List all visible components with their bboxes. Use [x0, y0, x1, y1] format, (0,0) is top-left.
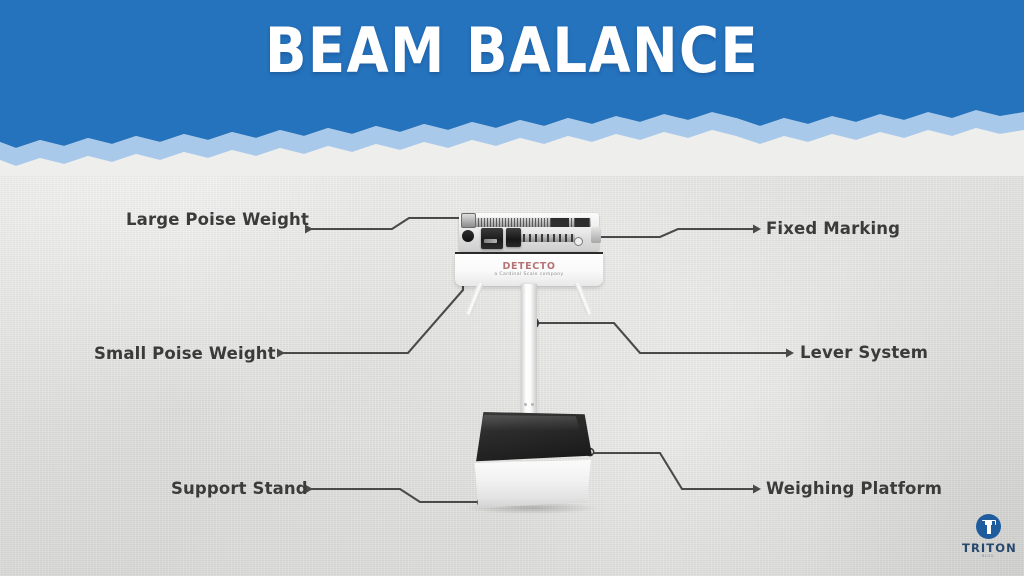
platform-base-housing	[471, 460, 592, 508]
callout-label-fixed-marking: Fixed Marking	[766, 219, 900, 239]
callout-label-large-poise-weight: Large Poise Weight	[126, 210, 309, 230]
beam-upper-scale-rail	[469, 217, 591, 227]
column-yoke-right	[574, 282, 592, 316]
support-column-post	[521, 284, 537, 418]
small-poise-weight-part	[506, 228, 521, 247]
brand-name: DETECTO	[455, 261, 603, 272]
beam-dark-segment-a	[551, 218, 569, 227]
beam-head	[455, 212, 603, 254]
brand-plate: DETECTO a Cardinal Scale company	[455, 252, 603, 286]
triton-trident-notch-right	[992, 521, 995, 525]
fixed-marking-part	[574, 237, 583, 246]
beam-right-pointer	[591, 227, 601, 243]
triton-logo: TRITON BLOG	[962, 512, 1014, 568]
triton-tagline: BLOG	[962, 554, 1014, 558]
weighing-platform-part	[464, 412, 598, 512]
large-poise-weight-part	[481, 228, 503, 249]
triton-wordmark: TRITON	[962, 541, 1014, 555]
beam-tick-marks-upper	[469, 218, 591, 227]
triton-trident-notch-left	[982, 521, 985, 525]
callout-label-weighing-platform: Weighing Platform	[766, 479, 942, 499]
beam-dark-segment-b	[575, 218, 589, 227]
callout-label-support-stand: Support Stand	[171, 479, 308, 499]
platform-deck-highlight	[476, 415, 580, 431]
beam-balance-infographic: BEAM BALANCE	[0, 0, 1024, 576]
column-screw-left	[524, 403, 527, 406]
triton-circle-badge	[976, 514, 1001, 539]
column-screw-right	[531, 403, 534, 406]
triton-trident-stem	[987, 521, 991, 534]
callout-label-small-poise-weight: Small Poise Weight	[94, 344, 276, 364]
callout-label-lever-system: Lever System	[800, 343, 928, 363]
beam-top-left-knob	[461, 213, 476, 228]
column-yoke-left	[465, 282, 483, 316]
brand-tagline: a Cardinal Scale company	[455, 272, 603, 277]
beam-left-pivot-knob	[462, 230, 474, 242]
